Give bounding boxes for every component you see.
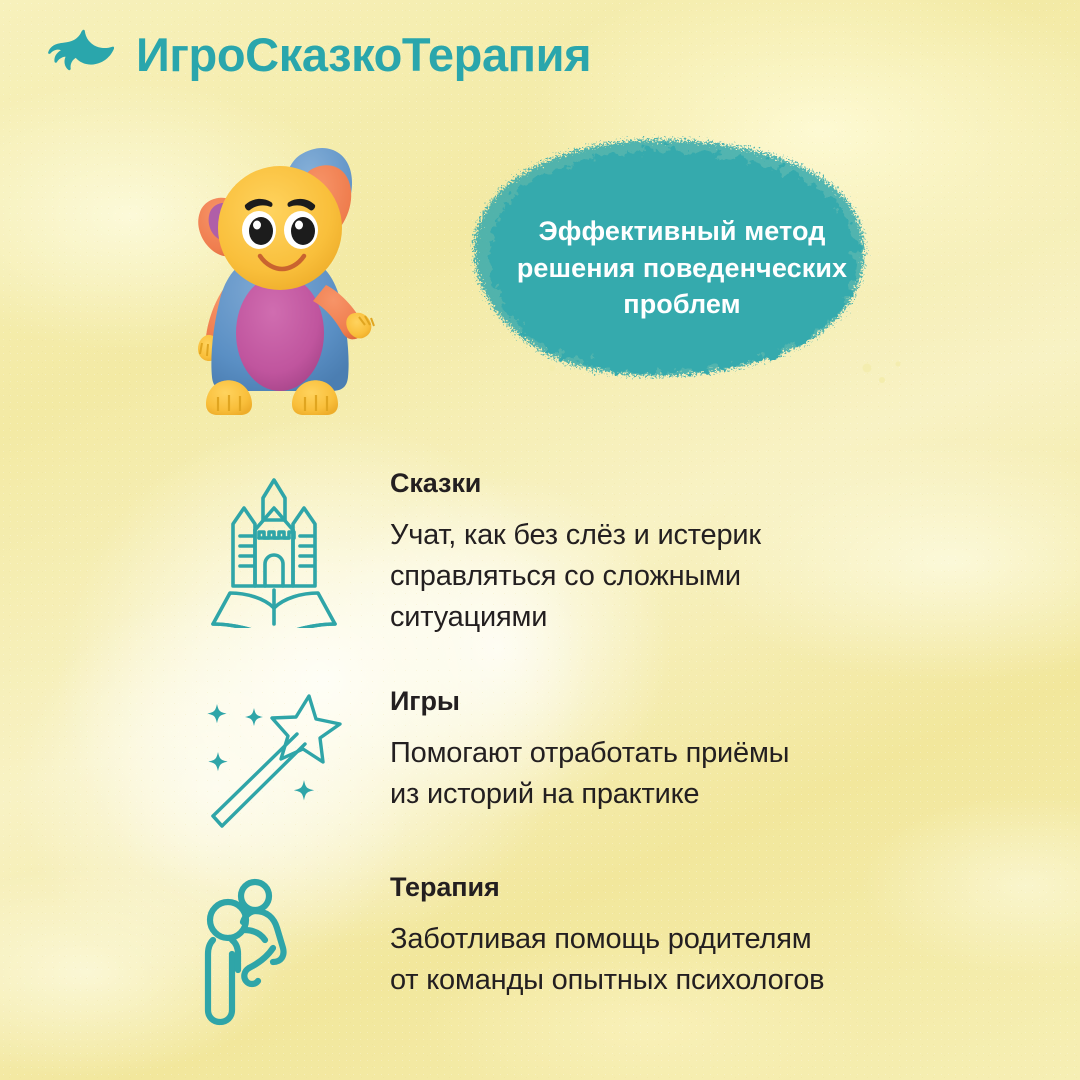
brand-header: ИгроСказкоТерапия bbox=[40, 28, 591, 80]
parent-holding-child-icon bbox=[190, 878, 358, 1038]
magic-wand-sparkles-icon bbox=[190, 690, 358, 840]
feature-item-skazki: Сказки Учат, как без слёз и истерик спра… bbox=[190, 468, 1010, 639]
feature-title: Терапия bbox=[390, 872, 1010, 903]
headline-line-3: проблем bbox=[462, 286, 902, 323]
headline-blob: Эффективный метод решения поведенческих … bbox=[412, 118, 952, 428]
feature-title: Сказки bbox=[390, 468, 1010, 499]
headline-line-2: решения поведенческих bbox=[462, 250, 902, 287]
feature-desc-line-2: из историй на практике bbox=[390, 774, 1010, 815]
feature-text-terapiya: Терапия Заботливая помощь родителям от к… bbox=[358, 872, 1010, 1001]
feature-desc-line-1: Учат, как без слёз и истерик bbox=[390, 515, 1010, 556]
feature-desc-line-2: справляться со сложными bbox=[390, 556, 1010, 597]
castle-book-icon bbox=[190, 468, 358, 628]
poster-canvas: ИгроСказкоТерапия bbox=[0, 0, 1080, 1080]
feature-title: Игры bbox=[390, 686, 1010, 717]
feature-text-igry: Игры Помогают отработать приёмы из истор… bbox=[358, 686, 1010, 815]
mouse-mascot-illustration bbox=[160, 133, 400, 418]
feature-desc-line-1: Помогают отработать приёмы bbox=[390, 733, 1010, 774]
headline-line-1: Эффективный метод bbox=[462, 213, 902, 250]
feature-description: Заботливая помощь родителям от команды о… bbox=[390, 919, 1010, 1001]
headline-text: Эффективный метод решения поведенческих … bbox=[462, 213, 902, 323]
feature-item-terapiya: Терапия Заботливая помощь родителям от к… bbox=[190, 872, 1010, 1038]
feature-text-skazki: Сказки Учат, как без слёз и истерик спра… bbox=[358, 468, 1010, 639]
feature-desc-line-1: Заботливая помощь родителям bbox=[390, 919, 1010, 960]
feature-desc-line-2: от команды опытных психологов bbox=[390, 960, 1010, 1001]
feature-description: Учат, как без слёз и истерик справляться… bbox=[390, 515, 1010, 639]
feature-description: Помогают отработать приёмы из историй на… bbox=[390, 733, 1010, 815]
page-title: ИгроСказкоТерапия bbox=[136, 31, 591, 78]
feature-item-igry: Игры Помогают отработать приёмы из истор… bbox=[190, 686, 1010, 840]
dove-bird-icon bbox=[40, 28, 114, 80]
feature-desc-line-3: ситуациями bbox=[390, 597, 1010, 638]
